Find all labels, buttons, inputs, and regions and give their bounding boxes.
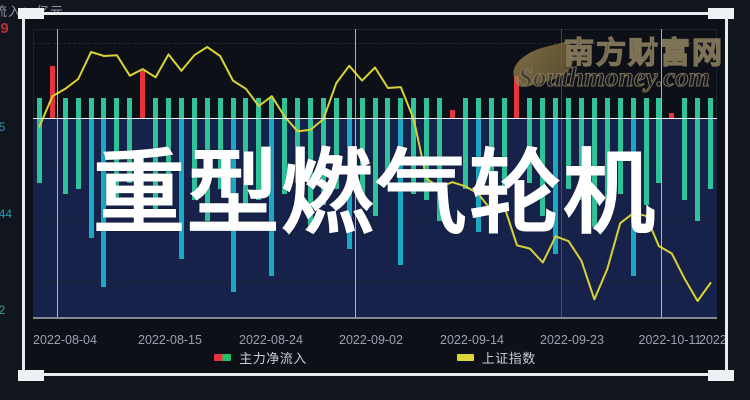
y-axis-label: 25 [0,120,5,134]
legend-item[interactable]: 主力净流入 [214,348,307,367]
axis-baseline [33,317,717,319]
x-axis-label: 2022-08-24 [239,333,303,347]
selection-handle-top-left[interactable] [18,8,44,19]
legend-swatch-icon [214,354,231,361]
x-axis-label: 2022-10-20 [699,333,725,347]
y-axis-label: 62 [0,303,5,317]
selection-handle-bottom-right[interactable] [708,370,734,381]
selection-handle-top-right[interactable] [708,8,734,19]
legend-label: 主力净流入 [239,348,307,367]
legend-item[interactable]: 上证指数 [457,348,536,367]
selection-handle-bottom-left[interactable] [18,370,44,381]
chart-legend: 主力净流入上证指数 [0,348,750,367]
x-axis-label: 2022-09-14 [440,333,504,347]
chart-screenshot: 流入：亿元 39 [0,0,750,400]
legend-swatch-icon [457,354,474,361]
x-axis-label: 2022-08-15 [138,333,202,347]
overlay-title: 重型燃气轮机 [0,148,750,240]
legend-label: 上证指数 [482,348,536,367]
x-axis-label: 2022-10-11 [638,333,701,347]
x-axis-label: 2022-09-02 [339,333,403,347]
x-axis-label: 2022-09-23 [540,333,604,347]
page-header-value: 39 [0,20,9,37]
zero-axis-line [33,118,717,119]
x-axis-label: 2022-08-04 [33,333,97,347]
